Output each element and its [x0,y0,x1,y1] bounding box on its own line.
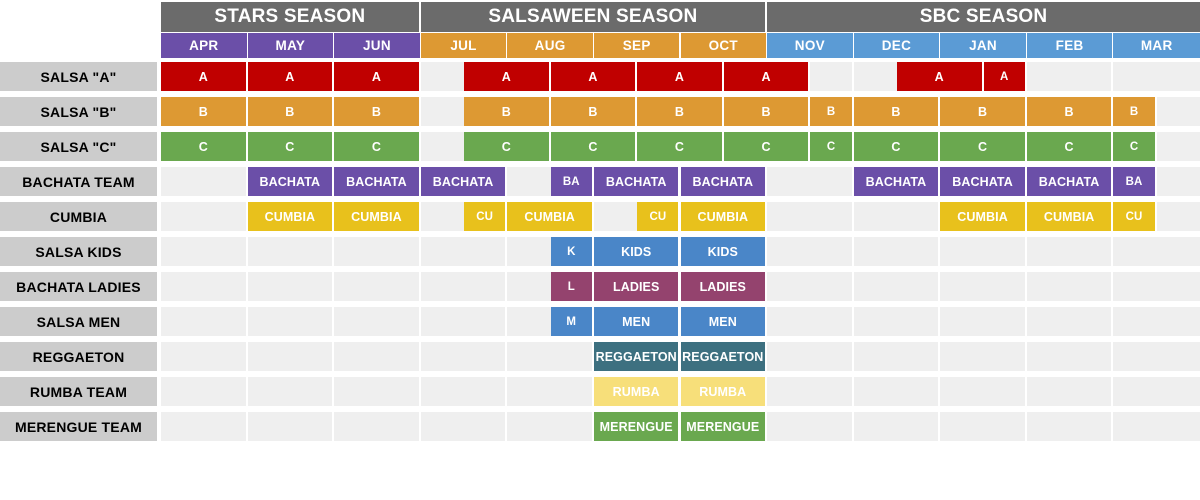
row-track: AAAAAAAAA [161,62,1200,91]
row-label[interactable]: RUMBA TEAM [0,377,157,406]
schedule-row: SALSA KIDSKKIDSKIDS [0,237,1200,266]
month-header-sep[interactable]: SEP [594,33,681,58]
schedule-bar[interactable]: CU [1113,202,1156,231]
month-header-jan[interactable]: JAN [940,33,1027,58]
empty-slot [767,272,854,301]
schedule-bar[interactable]: BACHATA [594,167,681,196]
month-header-apr[interactable]: APR [161,33,248,58]
month-header-mar[interactable]: MAR [1113,33,1200,58]
schedule-bar[interactable]: L [551,272,594,301]
schedule-bar[interactable]: M [551,307,594,336]
empty-slot [854,272,941,301]
schedule-bar[interactable]: A [637,62,724,91]
row-label[interactable]: BACHATA LADIES [0,272,157,301]
empty-slot [940,342,1027,371]
schedule-bar[interactable]: CUMBIA [681,202,768,231]
schedule-bar[interactable]: A [551,62,638,91]
schedule-bar[interactable]: B [940,97,1027,126]
schedule-bar[interactable]: C [464,132,551,161]
schedule-bar[interactable]: C [248,132,335,161]
schedule-bar[interactable]: LADIES [681,272,768,301]
empty-slot [248,272,335,301]
schedule-rows: SALSA "A"AAAAAAAAASALSA "B"BBBBBBBBBBBBS… [0,62,1200,447]
month-header-jul[interactable]: JUL [421,33,508,58]
schedule-bar[interactable]: BACHATA [854,167,941,196]
row-label[interactable]: CUMBIA [0,202,157,231]
schedule-bar[interactable]: B [810,97,853,126]
empty-slot [161,412,248,441]
season-header-row: STARS SEASONSALSAWEEN SEASONSBC SEASON [0,2,1200,32]
schedule-row: MERENGUE TEAMMERENGUEMERENGUE [0,412,1200,441]
row-label[interactable]: SALSA "B" [0,97,157,126]
empty-slot [940,377,1027,406]
empty-slot [767,307,854,336]
empty-slot [1113,342,1200,371]
empty-slot [854,307,941,336]
empty-slot [421,237,508,266]
schedule-bar[interactable]: BACHATA [681,167,768,196]
schedule-bar[interactable]: BACHATA [248,167,335,196]
row-track: REGGAETONREGGAETON [161,342,1200,371]
schedule-bar[interactable]: LADIES [594,272,681,301]
empty-slot [334,377,421,406]
schedule-bar[interactable]: B [248,97,335,126]
schedule-bar[interactable]: C [551,132,638,161]
schedule-bar[interactable]: RUMBA [681,377,768,406]
schedule-bar[interactable]: BA [551,167,594,196]
empty-slot [1027,272,1114,301]
schedule-bar[interactable]: C [810,132,853,161]
empty-slot [248,377,335,406]
schedule-bar[interactable]: CU [464,202,507,231]
empty-slot [421,307,508,336]
empty-slot [421,272,508,301]
schedule-bar[interactable]: K [551,237,594,266]
empty-slot [334,342,421,371]
row-label[interactable]: SALSA MEN [0,307,157,336]
schedule-bar[interactable]: C [1027,132,1114,161]
schedule-row: SALSA "C"CCCCCCCCCCCC [0,132,1200,161]
empty-slot [421,342,508,371]
empty-slot [940,307,1027,336]
schedule-bar[interactable]: CUMBIA [507,202,594,231]
schedule-bar[interactable]: CUMBIA [940,202,1027,231]
empty-slot [767,412,854,441]
schedule-bar[interactable]: CUMBIA [334,202,421,231]
empty-slot [1027,342,1114,371]
month-header-row: APRMAYJUNJULAUGSEPOCTNOVDECJANFEBMAR [0,33,1200,58]
month-header-oct[interactable]: OCT [681,33,768,58]
empty-slot [940,272,1027,301]
empty-slot [767,167,854,196]
schedule-bar[interactable]: B [854,97,941,126]
schedule-bar[interactable]: BACHATA [940,167,1027,196]
schedule-bar[interactable]: C [637,132,724,161]
empty-slot [1027,307,1114,336]
row-track: BBBBBBBBBBBB [161,97,1200,126]
schedule-row: SALSA MENMMENMEN [0,307,1200,336]
empty-slot [854,202,941,231]
schedule-bar[interactable]: A [984,62,1027,91]
schedule-bar[interactable]: B [464,97,551,126]
schedule-bar[interactable]: B [637,97,724,126]
schedule-bar[interactable]: REGGAETON [681,342,768,371]
schedule-bar[interactable]: BACHATA [421,167,508,196]
schedule-bar[interactable]: KIDS [594,237,681,266]
schedule-bar[interactable]: A [161,62,248,91]
empty-slot [507,342,594,371]
schedule-sheet: STARS SEASONSALSAWEEN SEASONSBC SEASON A… [0,0,1200,500]
schedule-bar[interactable]: REGGAETON [594,342,681,371]
empty-slot [161,202,248,231]
row-track: BACHATABACHATABACHATABABACHATABACHATABAC… [161,167,1200,196]
schedule-bar[interactable]: KIDS [681,237,768,266]
schedule-bar[interactable]: C [334,132,421,161]
schedule-bar[interactable]: B [161,97,248,126]
schedule-bar[interactable]: A [464,62,551,91]
season-header: SALSAWEEN SEASON [421,2,767,32]
empty-slot [161,307,248,336]
empty-slot [1113,272,1200,301]
empty-slot [1113,62,1200,91]
row-label[interactable]: REGGAETON [0,342,157,371]
schedule-row: BACHATA LADIESLLADIESLADIES [0,272,1200,301]
schedule-bar[interactable]: A [724,62,811,91]
empty-slot [507,412,594,441]
empty-slot [1027,377,1114,406]
empty-slot [248,412,335,441]
schedule-bar[interactable]: CU [637,202,680,231]
schedule-bar[interactable]: B [334,97,421,126]
row-label[interactable]: SALSA "A" [0,62,157,91]
empty-slot [767,202,854,231]
schedule-bar[interactable]: A [334,62,421,91]
month-header-nov[interactable]: NOV [767,33,854,58]
row-label[interactable]: MERENGUE TEAM [0,412,157,441]
month-header-dec[interactable]: DEC [854,33,941,58]
schedule-bar[interactable]: CUMBIA [1027,202,1114,231]
month-header-jun[interactable]: JUN [334,33,421,58]
row-track: CUMBIACUMBIACUCUMBIACUCUMBIACUMBIACUMBIA… [161,202,1200,231]
month-header-feb[interactable]: FEB [1027,33,1114,58]
schedule-bar[interactable]: C [940,132,1027,161]
row-label[interactable]: SALSA KIDS [0,237,157,266]
empty-slot [334,307,421,336]
empty-slot [854,412,941,441]
empty-slot [161,342,248,371]
empty-slot [1113,412,1200,441]
empty-slot [940,412,1027,441]
empty-slot [334,237,421,266]
empty-slot [421,377,508,406]
empty-slot [421,412,508,441]
empty-slot [161,272,248,301]
row-track: CCCCCCCCCCCC [161,132,1200,161]
empty-slot [334,272,421,301]
schedule-bar[interactable]: B [724,97,811,126]
row-label[interactable]: BACHATA TEAM [0,167,157,196]
schedule-bar[interactable]: MEN [681,307,768,336]
empty-slot [248,342,335,371]
empty-slot [507,377,594,406]
schedule-row: RUMBA TEAMRUMBARUMBA [0,377,1200,406]
empty-slot [248,237,335,266]
empty-slot [334,412,421,441]
schedule-row: REGGAETONREGGAETONREGGAETON [0,342,1200,371]
schedule-bar[interactable]: C [161,132,248,161]
season-header: STARS SEASON [161,2,421,32]
row-track: LLADIESLADIES [161,272,1200,301]
empty-slot [1027,412,1114,441]
empty-slot [161,377,248,406]
schedule-row: BACHATA TEAMBACHATABACHATABACHATABABACHA… [0,167,1200,196]
empty-slot [161,167,248,196]
empty-slot [854,237,941,266]
empty-slot [248,307,335,336]
schedule-bar[interactable]: CUMBIA [248,202,335,231]
schedule-bar[interactable]: MERENGUE [594,412,681,441]
empty-slot [1113,307,1200,336]
empty-slot [854,342,941,371]
schedule-bar[interactable]: A [248,62,335,91]
empty-slot [1027,237,1114,266]
empty-slot [161,237,248,266]
row-track: MERENGUEMERENGUE [161,412,1200,441]
schedule-bar[interactable]: RUMBA [594,377,681,406]
schedule-bar[interactable]: C [1113,132,1156,161]
schedule-bar[interactable]: C [854,132,941,161]
empty-slot [767,237,854,266]
schedule-bar[interactable]: B [1113,97,1156,126]
schedule-bar[interactable]: BA [1113,167,1156,196]
empty-slot [1027,62,1114,91]
schedule-row: CUMBIACUMBIACUMBIACUCUMBIACUCUMBIACUMBIA… [0,202,1200,231]
empty-slot [767,377,854,406]
empty-slot [1113,237,1200,266]
schedule-bar[interactable]: MERENGUE [681,412,768,441]
empty-slot [1113,377,1200,406]
month-header-may[interactable]: MAY [248,33,335,58]
empty-slot [767,342,854,371]
empty-slot [940,237,1027,266]
schedule-row: SALSA "B"BBBBBBBBBBBB [0,97,1200,126]
schedule-row: SALSA "A"AAAAAAAAA [0,62,1200,91]
schedule-bar[interactable]: BACHATA [1027,167,1114,196]
row-track: MMENMEN [161,307,1200,336]
month-header-aug[interactable]: AUG [507,33,594,58]
schedule-bar[interactable]: MEN [594,307,681,336]
row-track: KKIDSKIDS [161,237,1200,266]
row-track: RUMBARUMBA [161,377,1200,406]
season-header: SBC SEASON [767,2,1200,32]
schedule-bar[interactable]: C [724,132,811,161]
schedule-bar[interactable]: A [897,62,984,91]
schedule-bar[interactable]: BACHATA [334,167,421,196]
schedule-bar[interactable]: B [1027,97,1114,126]
schedule-bar[interactable]: B [551,97,638,126]
empty-slot [854,377,941,406]
row-label[interactable]: SALSA "C" [0,132,157,161]
